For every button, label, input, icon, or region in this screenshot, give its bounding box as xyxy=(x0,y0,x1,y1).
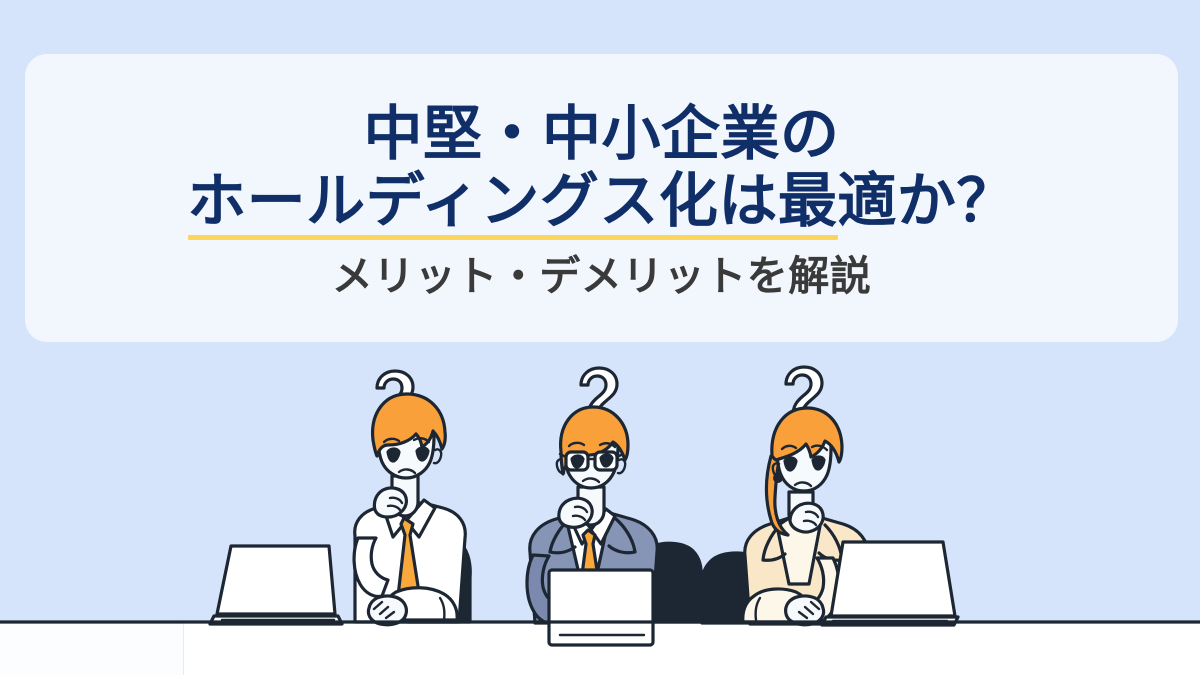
person-center-eye-right xyxy=(601,455,612,466)
illustration-three-puzzled-workers: .ol { fill:none; stroke:#1d2733; stroke-… xyxy=(0,340,1200,675)
illustration-svg: .ol { fill:none; stroke:#1d2733; stroke-… xyxy=(0,340,1200,675)
laptop-center-screen xyxy=(549,570,653,645)
laptop-right-screen xyxy=(831,542,955,616)
page-title-line-1: 中堅・中小企業の xyxy=(363,101,839,168)
title-underline-highlight xyxy=(188,235,838,240)
laptop-center xyxy=(549,570,653,645)
laptop-right xyxy=(822,542,958,625)
person-center-eye-left xyxy=(572,456,583,467)
person-right-eye-right xyxy=(813,457,824,469)
page-title-line-2-wrapper: ホールディングス化は最適か？ xyxy=(187,168,1016,235)
hero-banner: 中堅・中小企業の ホールディングス化は最適か？ メリット・デメリットを解説 .o… xyxy=(0,0,1200,675)
laptop-left-screen xyxy=(217,546,335,614)
person-left-eye-right xyxy=(417,448,428,460)
page-subtitle: メリット・デメリットを解説 xyxy=(332,254,872,299)
person-right-eye-left xyxy=(785,458,796,470)
person-left-eye-left xyxy=(388,449,399,461)
person-right-earring xyxy=(775,475,782,482)
person-center-chair xyxy=(651,543,701,622)
title-block: 中堅・中小企業の ホールディングス化は最適か？ メリット・デメリットを解説 xyxy=(25,54,1178,342)
laptop-left xyxy=(210,546,342,624)
page-title-line-2: ホールディングス化は最適か？ xyxy=(187,168,1016,234)
title-card: 中堅・中小企業の ホールディングス化は最適か？ メリット・デメリットを解説 xyxy=(25,54,1178,342)
person-left xyxy=(354,394,465,625)
